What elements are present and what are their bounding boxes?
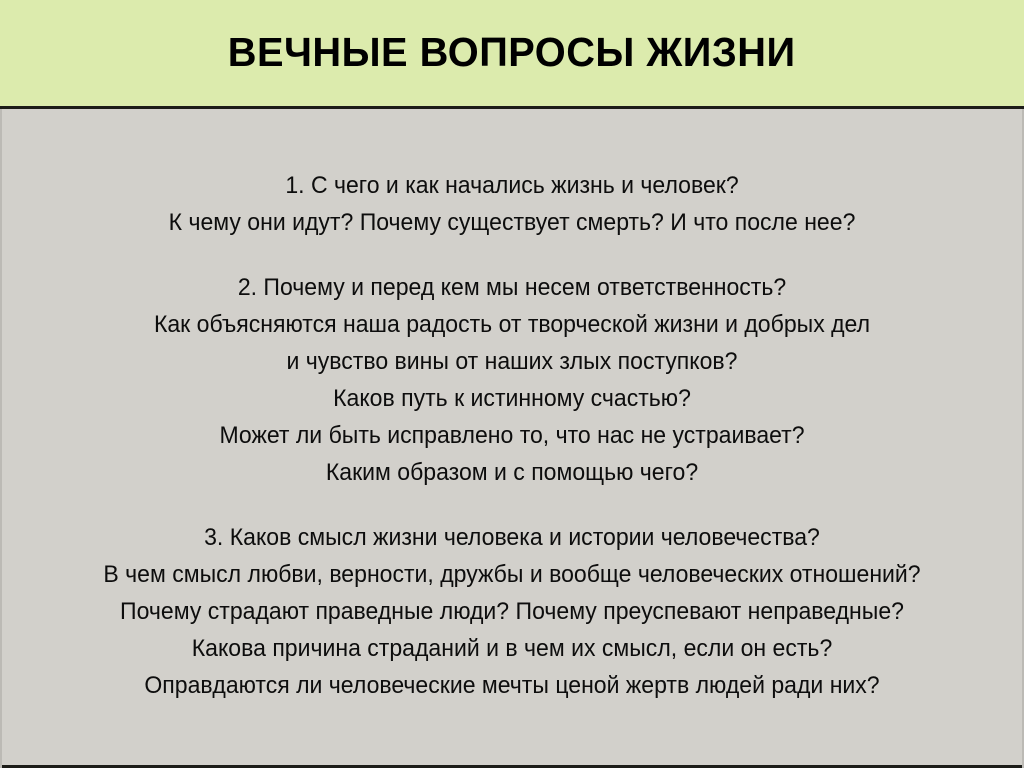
question-line: В чем смысл любви, верности, дружбы и во… (28, 556, 996, 593)
question-block-1: 1. С чего и как начались жизнь и человек… (8, 167, 1016, 241)
question-line: Каков путь к истинному счастью? (28, 380, 996, 417)
question-line: Может ли быть исправлено то, что нас не … (28, 417, 996, 454)
question-line: 3. Каков смысл жизни человека и истории … (28, 519, 996, 556)
title-band: ВЕЧНЫЕ ВОПРОСЫ ЖИЗНИ (0, 0, 1024, 109)
slide-body: 1. С чего и как начались жизнь и человек… (0, 109, 1024, 768)
question-line: и чувство вины от наших злых поступков? (28, 343, 996, 380)
question-line: Почему страдают праведные люди? Почему п… (28, 593, 996, 630)
question-line: К чему они идут? Почему существует смерт… (28, 204, 996, 241)
page-title: ВЕЧНЫЕ ВОПРОСЫ ЖИЗНИ (228, 32, 796, 77)
question-block-3: 3. Каков смысл жизни человека и истории … (8, 519, 1016, 704)
question-line: 2. Почему и перед кем мы несем ответстве… (28, 269, 996, 306)
slide: ВЕЧНЫЕ ВОПРОСЫ ЖИЗНИ 1. С чего и как нач… (0, 0, 1024, 768)
question-line: Как объясняются наша радость от творческ… (28, 306, 996, 343)
question-line: Какова причина страданий и в чем их смыс… (28, 630, 996, 667)
question-line: Каким образом и с помощью чего? (28, 454, 996, 491)
question-line: Оправдаются ли человеческие мечты ценой … (28, 667, 996, 704)
question-line: 1. С чего и как начались жизнь и человек… (28, 167, 996, 204)
question-block-2: 2. Почему и перед кем мы несем ответстве… (8, 269, 1016, 491)
